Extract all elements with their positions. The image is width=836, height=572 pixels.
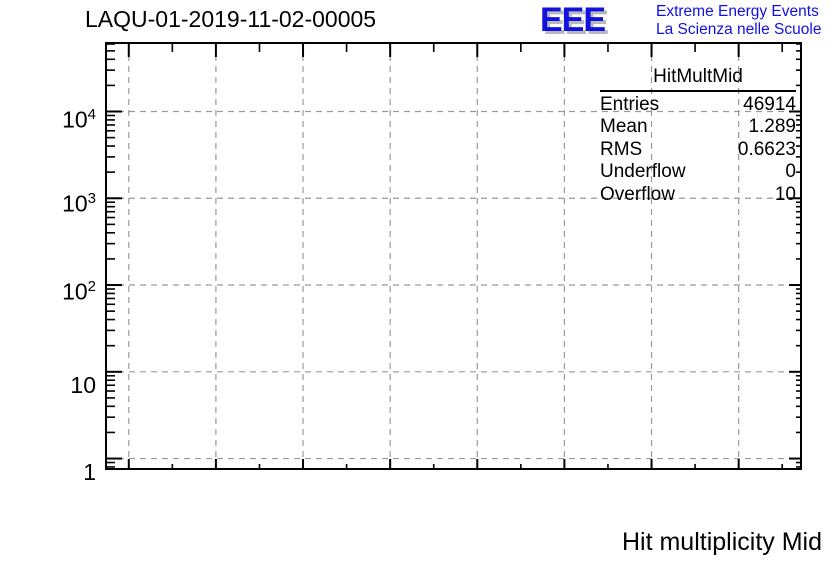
stats-box: HitMultMid Entries46914Mean1.289RMS0.662… xyxy=(596,66,800,206)
stats-row-value: 0.6623 xyxy=(738,139,796,162)
y-tick-1000: 103 xyxy=(62,190,96,218)
y-tick-1: 1 xyxy=(83,459,96,486)
y-tick-10000: 104 xyxy=(62,106,96,134)
stats-row: RMS0.6623 xyxy=(596,139,800,162)
y-tick-100: 102 xyxy=(62,278,96,306)
stats-row-key: Entries xyxy=(600,94,659,117)
stats-row-value: 10 xyxy=(775,184,796,207)
plot-canvas: LAQU-01-2019-11-02-00005 EEE Extreme Ene… xyxy=(0,0,836,572)
stats-row-key: Underflow xyxy=(600,161,686,184)
stats-row-key: Mean xyxy=(600,116,648,139)
stats-title: HitMultMid xyxy=(596,66,800,90)
page-title: LAQU-01-2019-11-02-00005 xyxy=(85,6,376,33)
stats-row: Entries46914 xyxy=(596,94,800,117)
stats-row: Underflow0 xyxy=(596,161,800,184)
y-tick-10: 10 xyxy=(70,372,96,399)
x-axis-title: Hit multiplicity Mid xyxy=(622,528,822,557)
y-axis-labels: 104 103 102 10 1 xyxy=(0,0,96,572)
stats-rows: Entries46914Mean1.289RMS0.6623Underflow0… xyxy=(596,94,800,207)
eee-logo-mark: EEE xyxy=(540,2,650,38)
stats-row-value: 0 xyxy=(785,161,796,184)
eee-logo-line1: Extreme Energy Events xyxy=(656,3,819,21)
stats-row-value: 1.289 xyxy=(748,116,796,139)
stats-row: Mean1.289 xyxy=(596,116,800,139)
stats-row-key: RMS xyxy=(600,139,642,162)
stats-row: Overflow10 xyxy=(596,184,800,207)
stats-divider xyxy=(600,90,796,92)
eee-logo: EEE Extreme Energy Events La Scienza nel… xyxy=(540,2,832,40)
stats-row-value: 46914 xyxy=(743,94,796,117)
stats-row-key: Overflow xyxy=(600,184,675,207)
eee-logo-line2: La Scienza nelle Scuole xyxy=(656,21,821,39)
